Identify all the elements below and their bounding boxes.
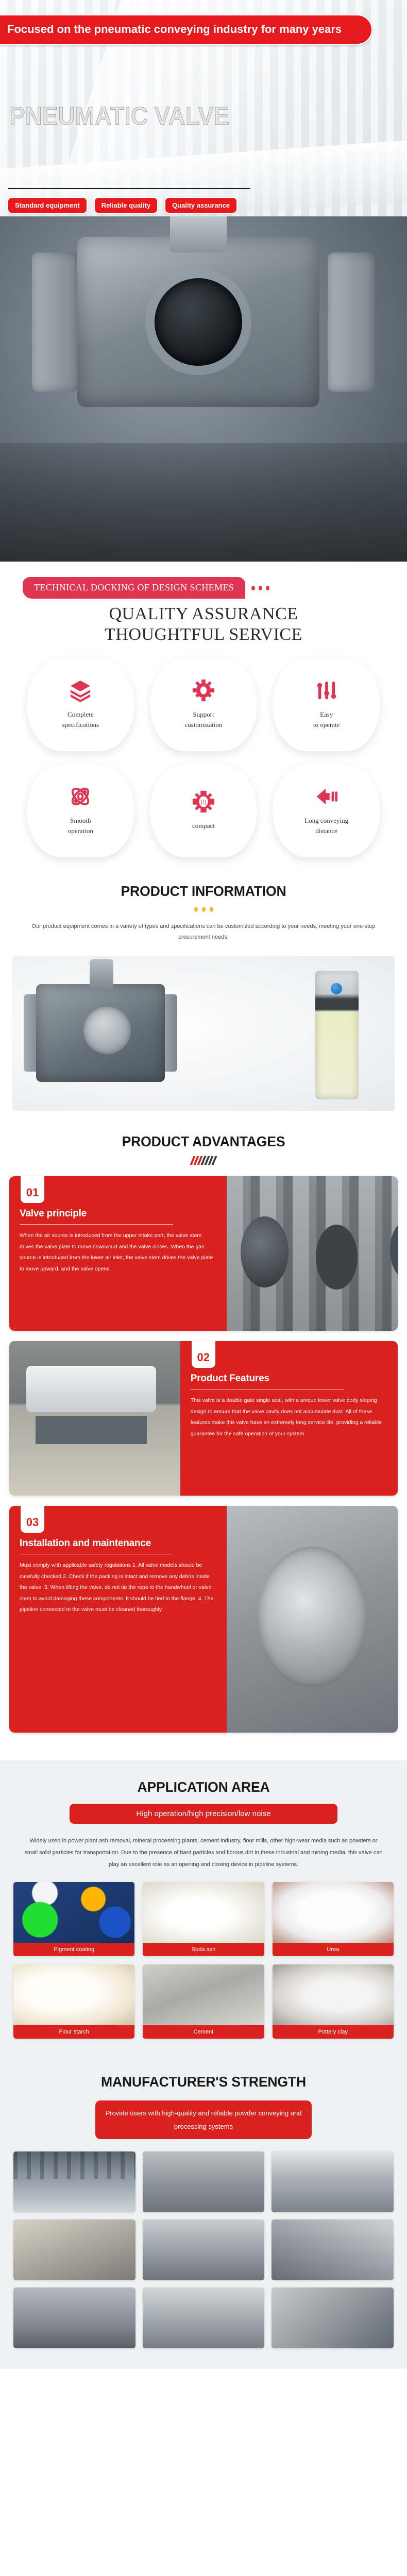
advantage-image	[227, 1176, 398, 1331]
advantage-number-badge: 02	[192, 1341, 215, 1368]
product-information-section: PRODUCT INFORMATION Our product equipmen…	[0, 862, 407, 1111]
application-item-urea[interactable]: Urea	[273, 1882, 394, 1956]
code-gear-icon: ⟨/⟩	[192, 790, 215, 814]
advantage-body: When the air source is introduced from t…	[20, 1230, 216, 1275]
atom-icon	[69, 785, 92, 808]
hero-section: Focused on the pneumatic conveying indus…	[0, 0, 407, 562]
manufacturer-photo-grid	[0, 2139, 407, 2348]
factory-photo	[13, 2219, 135, 2280]
advantage-image	[9, 1341, 180, 1496]
advantage-underline	[20, 1224, 173, 1225]
application-caption: Flour starch	[13, 2025, 134, 2039]
feature-label: Support customization	[185, 709, 223, 730]
hero-badge-standard-equipment: Standard equipment	[7, 197, 88, 214]
feature-card-smooth-operation[interactable]: Smooth operation	[27, 765, 134, 857]
hero-title: PNEUMATIC VALVE	[9, 101, 229, 131]
feature-card-compact[interactable]: ⟨/⟩ compact	[150, 765, 258, 857]
feature-card-long-conveying-distance[interactable]: Long conveying distance	[273, 765, 380, 857]
technical-docking-banner: TECHNICAL DOCKING OF DESIGN SCHEMES	[23, 577, 245, 599]
application-thumbnail	[273, 1882, 394, 1943]
advantage-text: 03 Installation and maintenance Must com…	[9, 1506, 227, 1733]
application-thumbnail	[143, 1882, 264, 1943]
manufacturer-strength-pill: Provide users with high-quality and reli…	[95, 2100, 312, 2139]
product-actuator-cylinder	[315, 971, 359, 1099]
advantage-underline	[191, 1389, 344, 1389]
feature-card-easy-to-operate[interactable]: Easy to operate	[273, 658, 380, 751]
application-grid: Pigment coating Soda ash Urea Flour star…	[0, 1871, 407, 2039]
valve-top-cap	[170, 216, 227, 252]
application-area-pill: High operation/high precision/low noise	[70, 1804, 337, 1824]
factory-photo	[143, 2151, 265, 2212]
product-information-photo	[12, 956, 395, 1111]
application-thumbnail	[13, 1964, 134, 2025]
product-advantages-title: PRODUCT ADVANTAGES	[10, 1133, 397, 1150]
banner-dots-icon	[251, 586, 269, 590]
hero-badge-reliable-quality: Reliable quality	[94, 197, 158, 214]
application-thumbnail	[273, 1964, 394, 2025]
layers-icon	[69, 679, 92, 702]
factory-photo	[13, 2287, 135, 2348]
valve-ground-shadow	[0, 443, 407, 562]
manufacturer-strength-section: MANUFACTURER'S STRENGTH Provide users wi…	[0, 2056, 407, 2369]
product-advantages-section: PRODUCT ADVANTAGES 01 Valve principle Wh…	[0, 1111, 407, 1760]
advantage-heading: Installation and maintenance	[20, 1538, 216, 1549]
feature-card-support-customization[interactable]: Support customization	[150, 658, 258, 751]
hero-badge-quality-assurance: Quality assurance	[164, 197, 238, 214]
manufacturer-strength-title: MANUFACTURER'S STRENGTH	[10, 2074, 397, 2090]
application-item-cement[interactable]: Cement	[143, 1964, 264, 2039]
advantage-card-02: 02 Product Features This valve is a doub…	[9, 1341, 398, 1496]
advantage-number-badge: 01	[21, 1176, 44, 1203]
factory-photo	[272, 2219, 394, 2280]
application-caption: Soda ash	[143, 1943, 264, 1956]
valve-flange-left	[32, 252, 79, 392]
advantage-card-01: 01 Valve principle When the air source i…	[9, 1176, 398, 1331]
feature-label: compact	[192, 821, 215, 831]
product-information-lead: Our product equipment comes in a variety…	[8, 921, 399, 943]
arrow-left-icon	[315, 785, 338, 808]
application-caption: Cement	[143, 2025, 264, 2039]
hero-product-photo	[0, 216, 407, 562]
sliders-icon	[315, 679, 338, 702]
application-thumbnail	[13, 1882, 134, 1943]
quality-assurance-section: TECHNICAL DOCKING OF DESIGN SCHEMES QUAL…	[0, 577, 407, 862]
hero-tagline-ribbon: Focused on the pneumatic conveying indus…	[0, 14, 372, 45]
advantage-text: 01 Valve principle When the air source i…	[9, 1176, 227, 1331]
factory-photo	[143, 2219, 265, 2280]
application-item-pigment-coating[interactable]: Pigment coating	[13, 1882, 134, 1956]
application-caption: Pottery clay	[273, 2025, 394, 2039]
application-item-pottery-clay[interactable]: Pottery clay	[273, 1964, 394, 2039]
gear-icon	[192, 679, 215, 702]
hero-badge-list: Standard equipment Reliable quality Qual…	[7, 197, 238, 214]
slash-divider-icon	[0, 1156, 407, 1165]
application-area-section: APPLICATION AREA High operation/high pre…	[0, 1760, 407, 2056]
application-caption: Pigment coating	[13, 1943, 134, 1956]
advantage-heading: Valve principle	[20, 1208, 216, 1219]
valve-bore	[155, 278, 242, 366]
feature-label: Easy to operate	[313, 709, 340, 730]
application-area-lead: Widely used in power plant ash removal, …	[0, 1824, 407, 1871]
advantage-heading: Product Features	[191, 1373, 387, 1384]
svg-text:⟨/⟩: ⟨/⟩	[200, 799, 207, 806]
product-valve-body	[36, 984, 165, 1082]
application-thumbnail	[143, 1964, 264, 2025]
quality-heading-line1: QUALITY ASSURANCE	[0, 604, 407, 624]
product-valve-stem	[90, 959, 113, 990]
feature-label: Complete specifications	[62, 709, 99, 730]
advantage-number-badge: 03	[21, 1506, 44, 1533]
technical-docking-banner-row: TECHNICAL DOCKING OF DESIGN SCHEMES	[23, 577, 407, 599]
application-item-soda-ash[interactable]: Soda ash	[143, 1882, 264, 1956]
application-area-title: APPLICATION AREA	[10, 1779, 397, 1795]
product-information-title: PRODUCT INFORMATION	[10, 883, 397, 900]
advantage-underline	[20, 1554, 173, 1554]
application-item-flour-starch[interactable]: Flour starch	[13, 1964, 134, 2039]
advantage-body: Must comply with applicable safety regul…	[20, 1560, 216, 1616]
advantage-text: 02 Product Features This valve is a doub…	[180, 1341, 398, 1496]
advantage-body: This valve is a double gate single seal,…	[191, 1395, 387, 1439]
valve-flange-right	[328, 252, 375, 392]
advantage-image	[227, 1506, 398, 1733]
product-detail-page: Focused on the pneumatic conveying indus…	[0, 0, 407, 2369]
feature-label: Smooth operation	[68, 816, 93, 836]
orange-dots-icon	[0, 907, 407, 912]
factory-photo	[272, 2151, 394, 2212]
feature-grid: Complete specifications Support customiz…	[0, 645, 407, 862]
application-caption: Urea	[273, 1943, 394, 1956]
advantage-card-03: 03 Installation and maintenance Must com…	[9, 1506, 398, 1733]
feature-card-complete-specifications[interactable]: Complete specifications	[27, 658, 134, 751]
quality-headings: QUALITY ASSURANCE THOUGHTFUL SERVICE	[0, 604, 407, 645]
quality-heading-line2: THOUGHTFUL SERVICE	[0, 624, 407, 645]
hero-divider	[8, 188, 250, 189]
feature-label: Long conveying distance	[304, 816, 348, 836]
factory-photo	[272, 2287, 394, 2348]
factory-photo	[143, 2287, 265, 2348]
factory-photo	[13, 2151, 135, 2212]
